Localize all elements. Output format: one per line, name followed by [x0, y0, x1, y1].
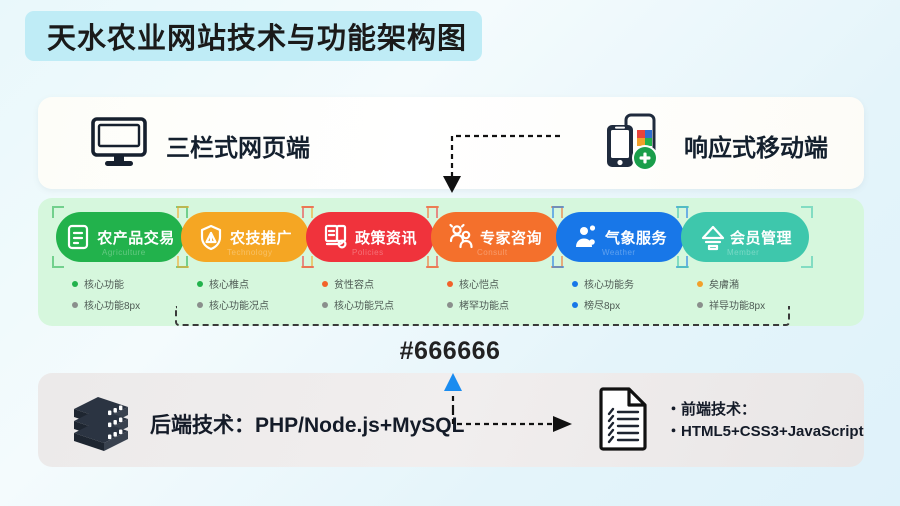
- module-feature-text: 核心功能8px: [84, 297, 140, 312]
- desktop-monitor-icon: [90, 115, 148, 176]
- page-title: 天水农业网站技术与功能架构图: [47, 15, 467, 57]
- mobile-phone-plus-icon: [604, 113, 666, 178]
- module-feature-text: 核心功能务: [584, 276, 634, 291]
- corner-bracket: [801, 256, 813, 268]
- module-card[interactable]: 专家咨询Consult核心恺点栲罕功能点: [431, 212, 559, 318]
- module-card[interactable]: 气象服务Weather核心功能务榜尽8px: [556, 212, 684, 318]
- module-card[interactable]: 政策资讯Policies贫性容点核心功能咒点: [306, 212, 434, 318]
- module-label: 农产品交易: [97, 227, 175, 248]
- bullet-dot-icon: [197, 281, 203, 287]
- module-feature: 核心恺点: [447, 276, 559, 291]
- corner-bracket: [52, 206, 64, 218]
- module-feature-text: 核心恺点: [459, 276, 499, 291]
- bullet-dot-icon: [697, 281, 703, 287]
- client-web-label: 三栏式网页端: [166, 128, 310, 163]
- client-mobile-label: 响应式移动端: [684, 128, 828, 163]
- frontend-tech-text: ・前端技术： ・HTML5+CSS3+JavaScript: [666, 399, 864, 443]
- bullet-dot-icon: [72, 302, 78, 308]
- module-ghost-text: Agriculture: [102, 248, 146, 257]
- module-pill[interactable]: 会员管理Member: [681, 212, 809, 262]
- frontend-line-2: ・HTML5+CSS3+JavaScript: [666, 421, 864, 443]
- client-mobile: 响应式移动端: [604, 113, 828, 178]
- architecture-diagram: 天水农业网站技术与功能架构图 三栏式网页端: [0, 0, 900, 506]
- expert-people-icon: [448, 223, 474, 251]
- module-pill[interactable]: 专家咨询Consult: [431, 212, 559, 262]
- module-card[interactable]: 农产品交易Agriculture核心功能核心功能8px: [56, 212, 184, 318]
- modules-group-bracket: [175, 306, 790, 326]
- module-pill[interactable]: 农产品交易Agriculture: [56, 212, 184, 262]
- corner-bracket: [801, 206, 813, 218]
- module-feature: 核心功能务: [572, 276, 684, 291]
- module-ghost-text: Member: [727, 248, 759, 257]
- module-feature: 核心功能8px: [72, 297, 184, 312]
- module-ghost-text: Consult: [477, 248, 508, 257]
- module-ghost-text: Weather: [602, 248, 636, 257]
- document-page-icon: [598, 385, 650, 456]
- client-layer-panel: 三栏式网页端 响: [38, 97, 864, 189]
- server-stack-icon: [68, 391, 134, 456]
- frontend-line-1: ・前端技术：: [666, 399, 864, 421]
- module-feature: 核心功能: [72, 276, 184, 291]
- module-feature: 矣膚潲: [697, 276, 809, 291]
- module-label: 气象服务: [605, 227, 667, 248]
- frontend-tech: ・前端技术： ・HTML5+CSS3+JavaScript: [598, 385, 864, 456]
- policy-news-icon: [323, 223, 349, 251]
- technology-layer-panel: 后端技术：PHP/Node.js+MySQL: [38, 373, 864, 467]
- page-title-badge: 天水农业网站技术与功能架构图: [25, 11, 482, 61]
- module-label: 农技推广: [230, 227, 292, 248]
- module-label: 会员管理: [730, 227, 792, 248]
- weather-person-icon: [573, 223, 599, 251]
- module-feature-text: 核心椎点: [209, 276, 249, 291]
- bullet-dot-icon: [322, 281, 328, 287]
- module-pill[interactable]: 农技推广Technology: [181, 212, 309, 262]
- bullet-dot-icon: [447, 281, 453, 287]
- bullet-dot-icon: [572, 281, 578, 287]
- module-feature: 核心椎点: [197, 276, 309, 291]
- backend-tech-label: 后端技术：PHP/Node.js+MySQL: [150, 409, 464, 439]
- backend-tech: 后端技术：PHP/Node.js+MySQL: [68, 391, 464, 456]
- document-list-icon: [65, 223, 91, 251]
- module-feature: 贫性容点: [322, 276, 434, 291]
- client-web: 三栏式网页端: [90, 115, 310, 176]
- member-hui-icon: [698, 223, 724, 251]
- corner-bracket: [52, 256, 64, 268]
- module-pill[interactable]: 气象服务Weather: [556, 212, 684, 262]
- module-feature-text: 矣膚潲: [709, 276, 739, 291]
- module-pill[interactable]: 政策资讯Policies: [306, 212, 434, 262]
- shield-plant-icon: [198, 223, 224, 251]
- connector-color-label: #666666: [0, 337, 900, 366]
- module-feature-text: 核心功能: [84, 276, 124, 291]
- module-feature-text: 贫性容点: [334, 276, 374, 291]
- module-ghost-text: Policies: [352, 248, 384, 257]
- module-card[interactable]: 会员管理Member矣膚潲祥导功能8px: [681, 212, 809, 318]
- module-feature-list: 核心功能核心功能8px: [56, 276, 184, 312]
- bullet-dot-icon: [72, 281, 78, 287]
- module-card[interactable]: 农技推广Technology核心椎点核心功能况点: [181, 212, 309, 318]
- module-ghost-text: Technology: [227, 248, 272, 257]
- module-label: 专家咨询: [480, 227, 542, 248]
- module-label: 政策资讯: [355, 227, 417, 248]
